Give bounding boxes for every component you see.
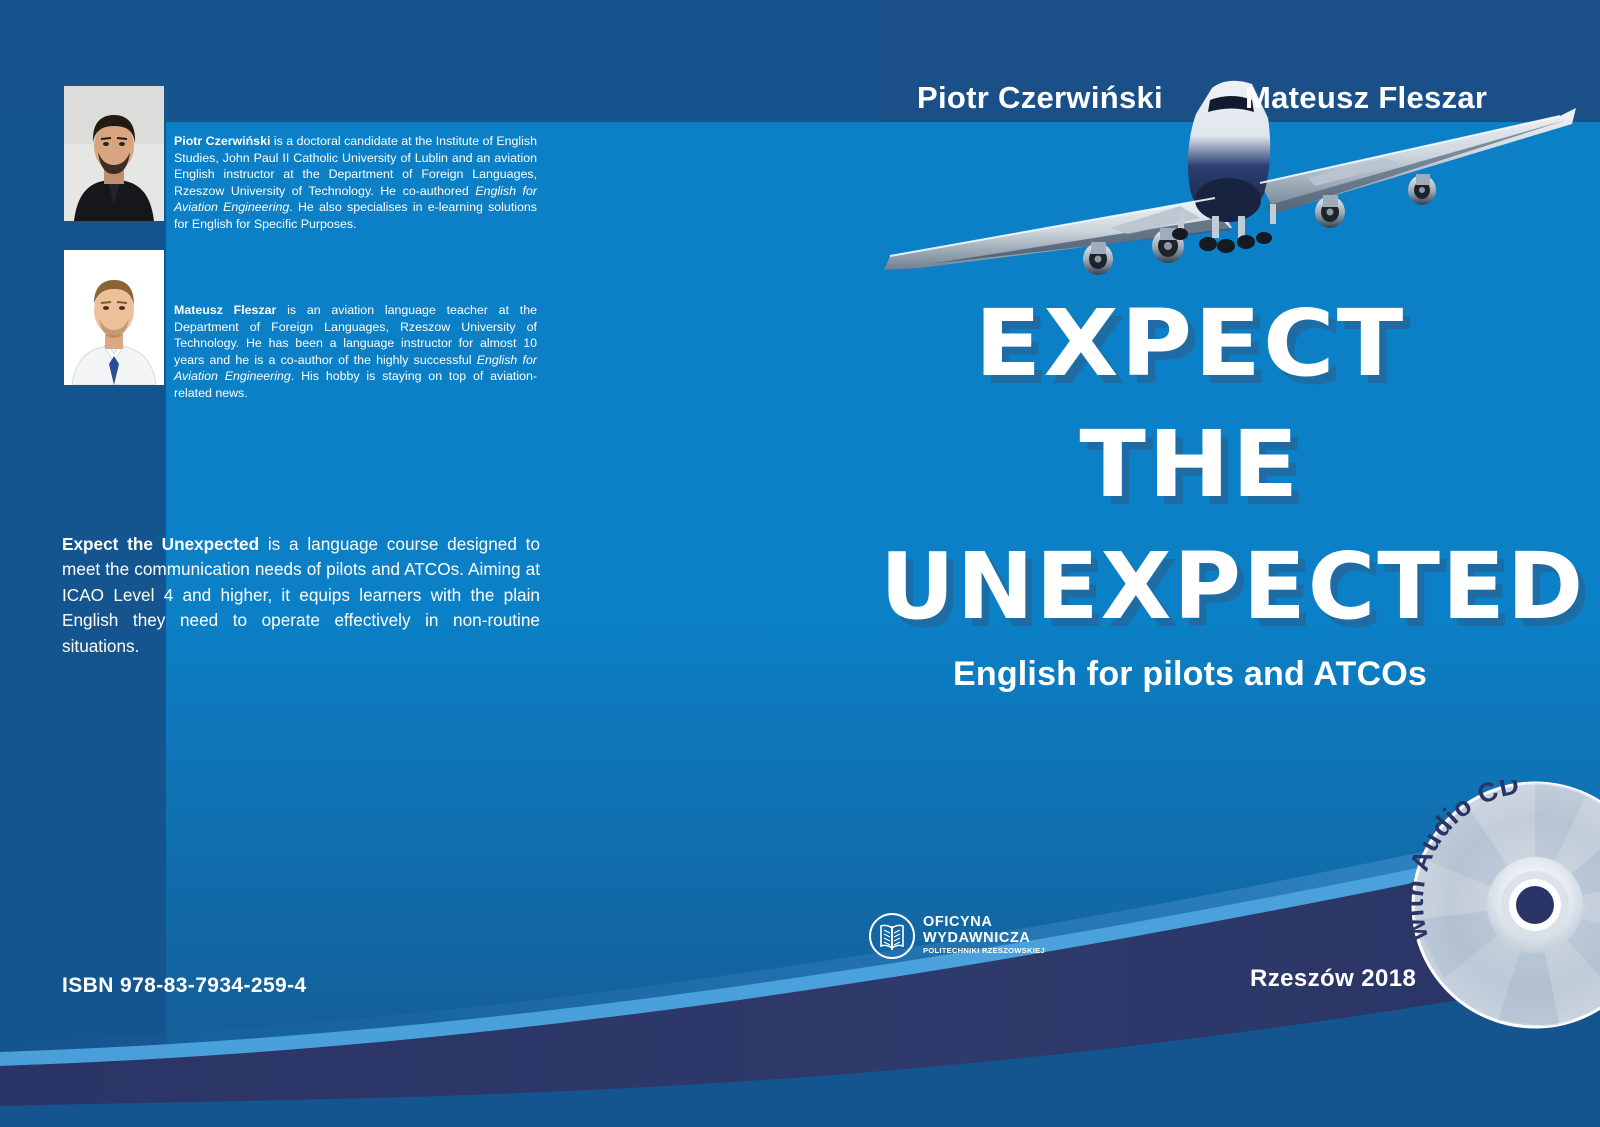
book-cover: Piotr Czerwiński Mateusz Fleszar EXPECT … bbox=[0, 0, 1600, 1127]
publisher-logo: OFICYNA WYDAWNICZA POLITECHNIKI RZESZOWS… bbox=[868, 910, 1048, 972]
publisher-line-1: OFICYNA bbox=[923, 914, 1045, 930]
front-author-name-2: Mateusz Fleszar bbox=[1245, 80, 1487, 116]
author-bio-1: Piotr Czerwiński is a doctoral candidate… bbox=[174, 133, 537, 232]
blurb-title: Expect the Unexpected bbox=[62, 534, 259, 554]
bottom-wave-graphic bbox=[0, 780, 1600, 1127]
title-line-1: EXPECT bbox=[861, 300, 1518, 387]
publisher-emblem-icon bbox=[868, 912, 916, 960]
book-subtitle: English for pilots and ATCOs bbox=[880, 655, 1500, 694]
publisher-line-2: WYDAWNICZA bbox=[923, 930, 1045, 946]
author-portrait-2 bbox=[64, 250, 164, 385]
isbn-label: ISBN 978-83-7934-259-4 bbox=[62, 974, 307, 998]
author-portrait-1 bbox=[64, 86, 164, 221]
author-bio-2: Mateusz Fleszar is an aviation language … bbox=[174, 302, 537, 401]
book-title: EXPECT THE UNEXPECTED bbox=[880, 300, 1500, 630]
place-and-year: Rzeszów 2018 bbox=[1250, 965, 1416, 993]
author-bio-1-name: Piotr Czerwiński bbox=[174, 134, 270, 148]
front-author-name-1: Piotr Czerwiński bbox=[917, 80, 1163, 116]
author-bio-2-name: Mateusz Fleszar bbox=[174, 303, 276, 317]
title-line-2: THE bbox=[861, 421, 1518, 508]
publisher-name: OFICYNA WYDAWNICZA POLITECHNIKI RZESZOWS… bbox=[923, 914, 1045, 956]
audio-cd-badge: with Audio CD bbox=[1410, 780, 1600, 1030]
title-line-3: UNEXPECTED bbox=[880, 543, 1500, 630]
book-blurb: Expect the Unexpected is a language cour… bbox=[62, 532, 540, 659]
publisher-line-3: POLITECHNIKI RZESZOWSKIEJ bbox=[923, 947, 1045, 956]
